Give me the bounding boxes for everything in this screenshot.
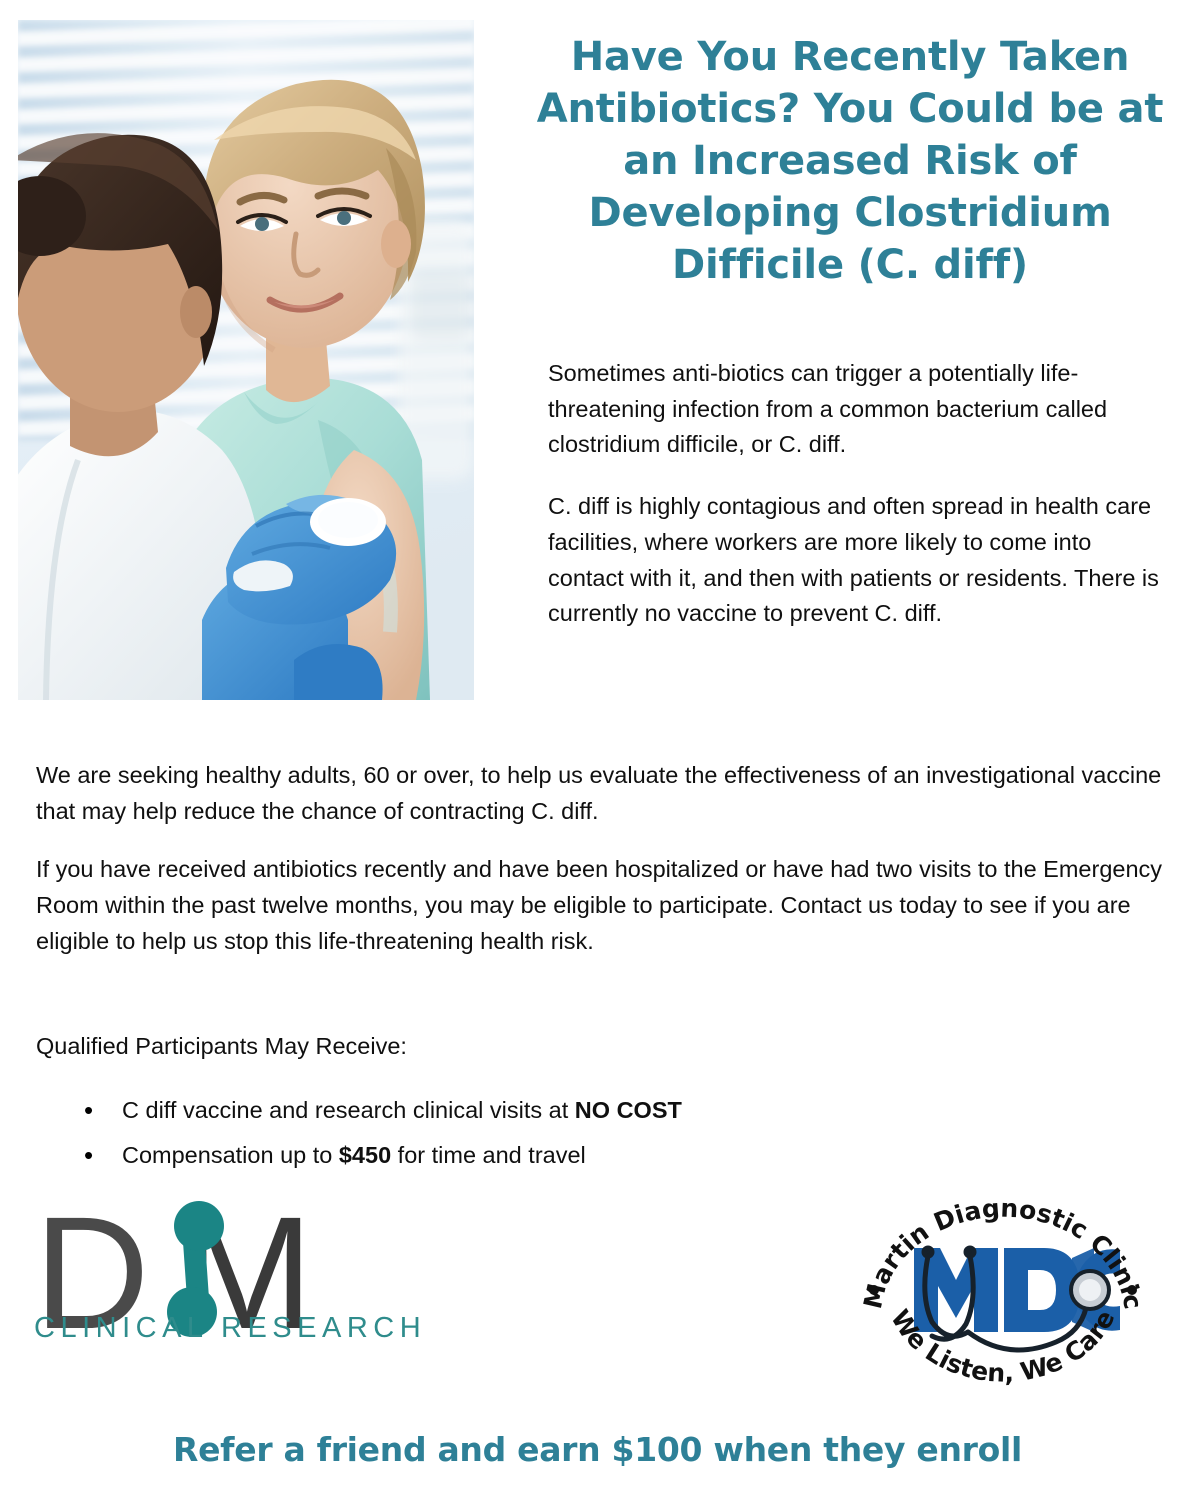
page-title: Have You Recently Taken Antibiotics? You…: [520, 31, 1180, 291]
stethoscope-chestpiece-icon: [1071, 1271, 1109, 1309]
intro-text-block: Sometimes anti-biotics can trigger a pot…: [548, 356, 1173, 632]
list-item: Compensation up to $450 for time and tra…: [78, 1139, 978, 1172]
intro-paragraph-2: C. diff is highly contagious and often s…: [548, 489, 1173, 632]
benefit-emphasis: NO COST: [575, 1097, 682, 1123]
benefit-prefix: Compensation up to: [122, 1142, 339, 1168]
right-dot-icon: [1127, 1285, 1137, 1295]
body-paragraph-2: If you have received antibiotics recentl…: [36, 852, 1176, 960]
mdc-logo-mark: Martin Diagnostic Clinic We Listen, We C…: [858, 1186, 1148, 1386]
benefit-suffix: for time and travel: [391, 1142, 586, 1168]
benefit-prefix: C diff vaccine and research clinical vis…: [122, 1097, 575, 1123]
dm-logo-wordmark: CLINICAL RESEARCH: [34, 1312, 426, 1345]
benefit-emphasis: $450: [339, 1142, 391, 1168]
referral-cta: Refer a friend and earn $100 when they e…: [0, 1430, 1195, 1469]
benefits-list: C diff vaccine and research clinical vis…: [78, 1094, 978, 1185]
left-dot-icon: [869, 1285, 879, 1295]
body-text-block: We are seeking healthy adults, 60 or ove…: [36, 758, 1176, 982]
benefits-title: Qualified Participants May Receive:: [36, 1030, 407, 1063]
intro-paragraph-1: Sometimes anti-biotics can trigger a pot…: [548, 356, 1173, 463]
list-item: C diff vaccine and research clinical vis…: [78, 1094, 978, 1127]
clinic-photo-illustration: [18, 20, 474, 700]
body-paragraph-1: We are seeking healthy adults, 60 or ove…: [36, 758, 1176, 830]
martin-diagnostic-clinic-logo: Martin Diagnostic Clinic We Listen, We C…: [858, 1186, 1148, 1386]
clinic-photo: [18, 20, 474, 700]
